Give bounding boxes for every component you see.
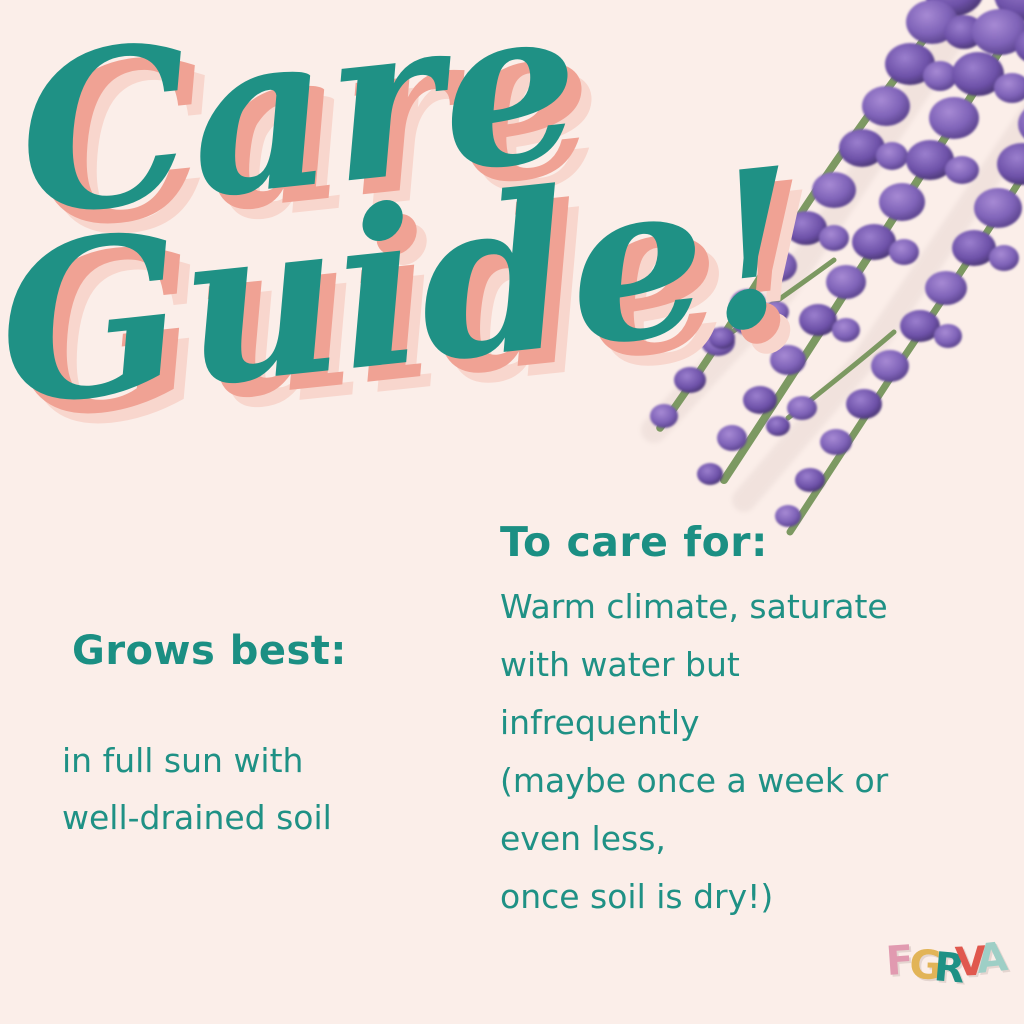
grows-best-line-2: well-drained soil bbox=[62, 789, 458, 846]
to-care-for-heading: To care for: bbox=[500, 518, 1000, 566]
care-guide-poster: Care Guide! Care Guide! Care Guide! Grow… bbox=[0, 0, 1024, 1024]
to-care-for-line-3: infrequently bbox=[500, 694, 1000, 752]
poster-title: Care Guide! Care Guide! Care Guide! bbox=[28, 28, 668, 528]
fgrva-logo: F G R V A F G R V A bbox=[886, 934, 1002, 992]
grows-best-line-1: in full sun with bbox=[62, 732, 458, 789]
to-care-for-line-2: with water but bbox=[500, 636, 1000, 694]
grows-best-heading: Grows best: bbox=[72, 628, 458, 674]
grows-best-section: Grows best: in full sun with well-draine… bbox=[58, 628, 458, 846]
to-care-for-line-5: even less, bbox=[500, 810, 1000, 868]
to-care-for-line-1: Warm climate, saturate bbox=[500, 578, 1000, 636]
to-care-for-line-4: (maybe once a week or bbox=[500, 752, 1000, 810]
to-care-for-section: To care for: Warm climate, saturate with… bbox=[500, 518, 1000, 926]
to-care-for-line-6: once soil is dry!) bbox=[500, 868, 1000, 926]
logo-letter-a: A bbox=[974, 934, 1010, 983]
